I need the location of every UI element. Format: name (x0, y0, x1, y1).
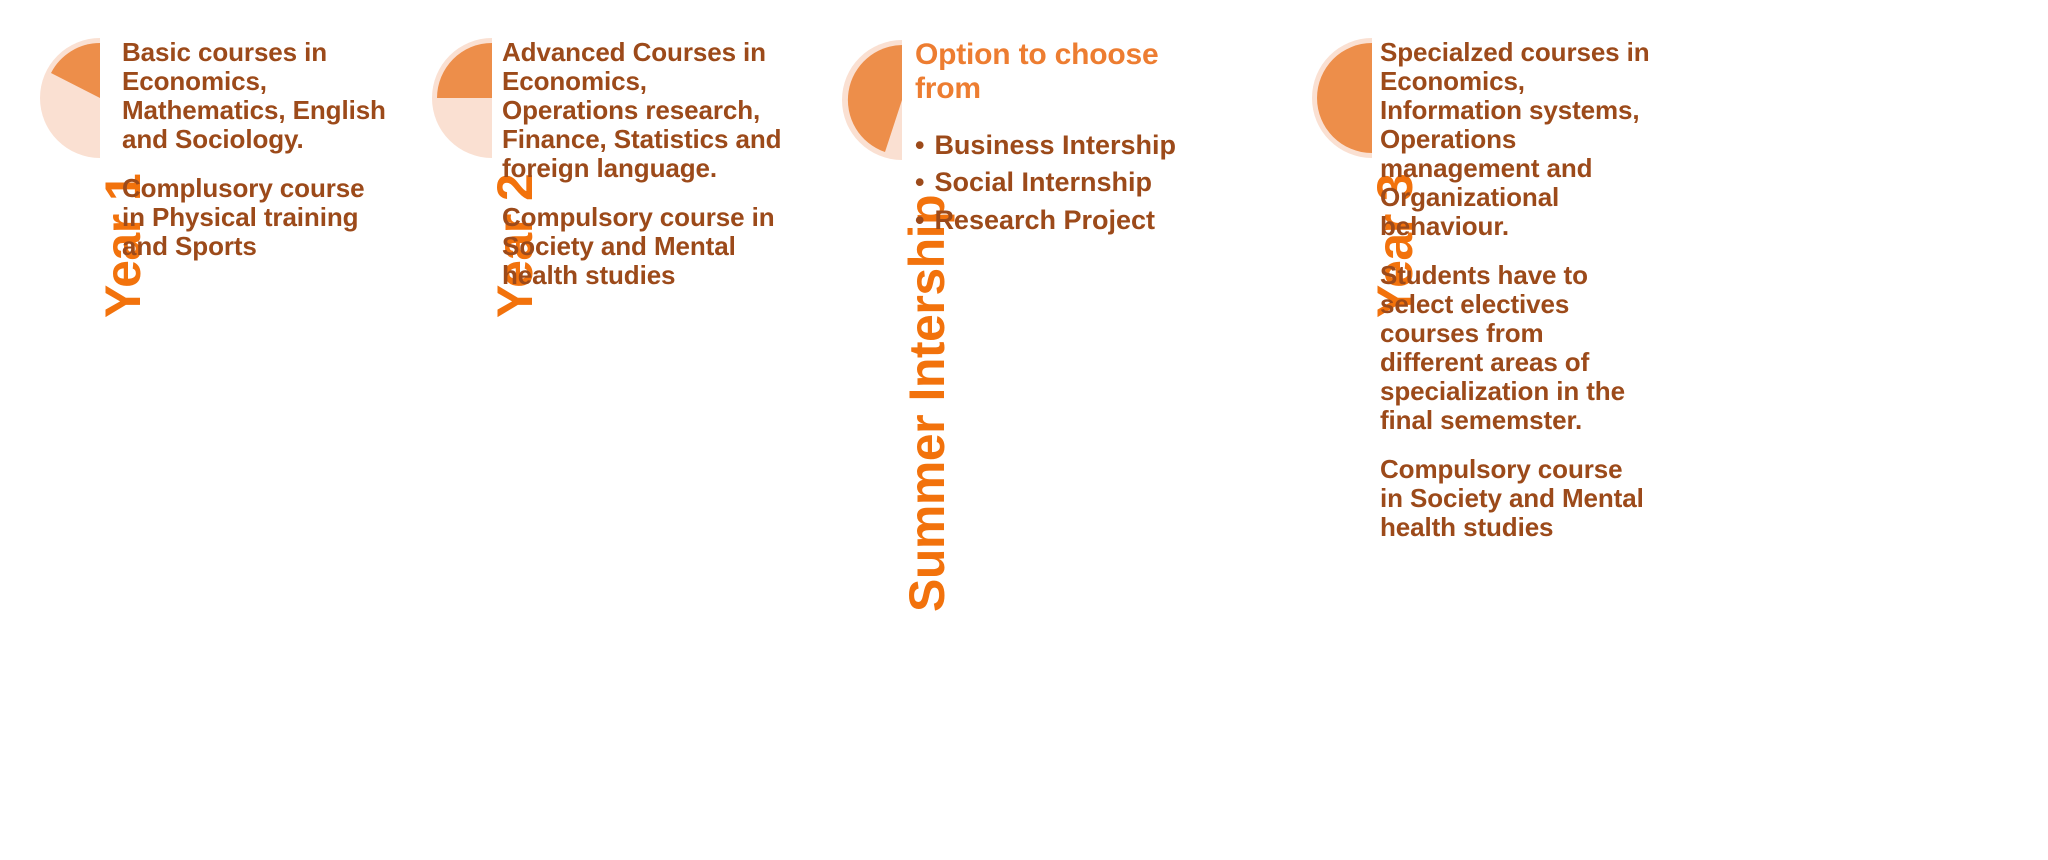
paragraph: Specialzed courses in Economics, Informa… (1380, 38, 1650, 241)
program-structure-diagram: Year 1 Basic courses in Economics, Mathe… (0, 0, 2048, 860)
internship-options-list: •Business Intership •Social Internship •… (915, 127, 1215, 239)
half-wedge-gauge-icon (418, 36, 498, 160)
list-item-label: Social Internship (934, 167, 1152, 197)
text-body-year-2: Advanced Courses in Economics, Operation… (502, 38, 787, 290)
text-body-summer-internship: Option to choose from •Business Intershi… (915, 38, 1215, 239)
paragraph: Basic courses in Economics, Mathematics,… (122, 38, 390, 154)
text-body-year-1: Basic courses in Economics, Mathematics,… (122, 38, 390, 261)
vertical-label-summer-internship: Summer Intership (902, 195, 952, 612)
three-quarter-wedge-gauge-icon (828, 38, 908, 162)
list-item: •Research Project (915, 202, 1215, 239)
quarter-wedge-gauge-icon (26, 36, 106, 160)
column-year-3: Year 3 Specialzed courses in Economics, … (1290, 0, 1720, 860)
bullet-dot-icon: • (915, 127, 934, 164)
full-semicircle-gauge-icon (1298, 36, 1378, 160)
paragraph: Compulsory course in Society and Mental … (1380, 455, 1650, 542)
column-year-2: Year 2 Advanced Courses in Economics, Op… (410, 0, 820, 860)
option-heading: Option to choose from (915, 38, 1215, 105)
list-item-label: Business Intership (934, 130, 1176, 160)
text-body-year-3: Specialzed courses in Economics, Informa… (1380, 38, 1650, 542)
column-summer-internship: Summer Intership Option to choose from •… (820, 0, 1290, 860)
list-item: •Business Intership (915, 127, 1215, 164)
paragraph: Advanced Courses in Economics, Operation… (502, 38, 787, 183)
list-item: •Social Internship (915, 164, 1215, 201)
paragraph: Students have to select electives course… (1380, 261, 1650, 435)
bullet-dot-icon: • (915, 164, 934, 201)
column-year-1: Year 1 Basic courses in Economics, Mathe… (18, 0, 418, 860)
paragraph: Complusory course in Physical training a… (122, 174, 390, 261)
list-item-label: Research Project (934, 205, 1155, 235)
paragraph: Compulsory course in Society and Mental … (502, 203, 787, 290)
bullet-dot-icon: • (915, 202, 934, 239)
